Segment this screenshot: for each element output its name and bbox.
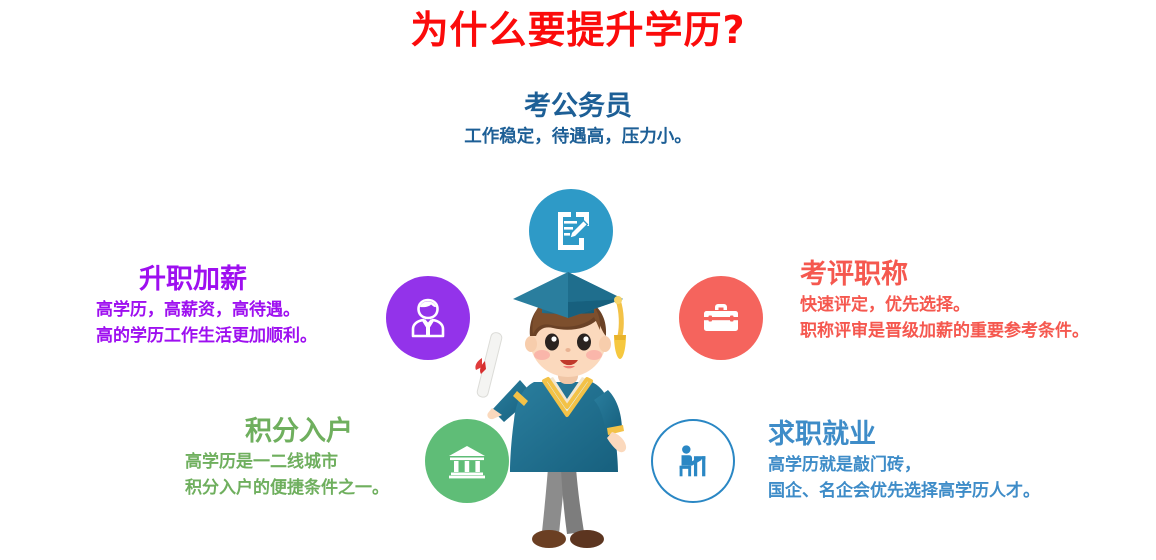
section-points-residency: 积分入户 高学历是一二线城市 积分入户的便捷条件之一。 (150, 415, 420, 501)
section-job-seeking-heading: 求职就业 (768, 418, 1128, 452)
graduate-boy-svg (460, 262, 675, 560)
section-title-evaluation-heading: 考评职称 (800, 258, 1150, 292)
section-civil-service-line1: 工作稳定，待遇高，压力小。 (378, 124, 778, 150)
section-title-evaluation-line2: 职称评审是晋级加薪的重要参考条件。 (800, 318, 1150, 344)
section-title-evaluation-line1: 快速评定，优先选择。 (800, 292, 1150, 318)
section-civil-service: 考公务员 工作稳定，待遇高，压力小。 (378, 90, 778, 150)
icon-circle-title-evaluation (679, 276, 763, 360)
section-promotion: 升职加薪 高学历，高薪资，高待遇。 高的学历工作生活更加顺利。 (30, 263, 370, 349)
page-title: 为什么要提升学历? (0, 8, 1156, 52)
infographic-canvas: 为什么要提升学历? 考公务员 工作稳定，待遇高，压力小。 升职加薪 高学历，高薪… (0, 0, 1156, 560)
section-job-seeking: 求职就业 高学历就是敲门砖， 国企、名企会优先选择高学历人才。 (768, 418, 1128, 504)
section-civil-service-heading: 考公务员 (378, 90, 778, 124)
businessman-icon (405, 295, 451, 341)
section-points-residency-line1: 高学历是一二线城市 (150, 449, 420, 475)
job-interview-icon (671, 439, 715, 483)
section-job-seeking-line1: 高学历就是敲门砖， (768, 452, 1128, 478)
icon-circle-civil-service (529, 189, 613, 273)
section-points-residency-heading: 积分入户 (150, 415, 420, 449)
exam-document-pen-icon (548, 208, 594, 254)
section-promotion-line2: 高的学历工作生活更加顺利。 (30, 323, 370, 349)
section-title-evaluation: 考评职称 快速评定，优先选择。 职称评审是晋级加薪的重要参考条件。 (800, 258, 1150, 344)
section-promotion-heading: 升职加薪 (30, 263, 370, 297)
graduate-boy-illustration (460, 262, 675, 560)
briefcase-icon (698, 295, 744, 341)
section-job-seeking-line2: 国企、名企会优先选择高学历人才。 (768, 478, 1128, 504)
icon-circle-promotion (386, 276, 470, 360)
section-points-residency-line2: 积分入户的便捷条件之一。 (150, 475, 420, 501)
section-promotion-line1: 高学历，高薪资，高待遇。 (30, 297, 370, 323)
